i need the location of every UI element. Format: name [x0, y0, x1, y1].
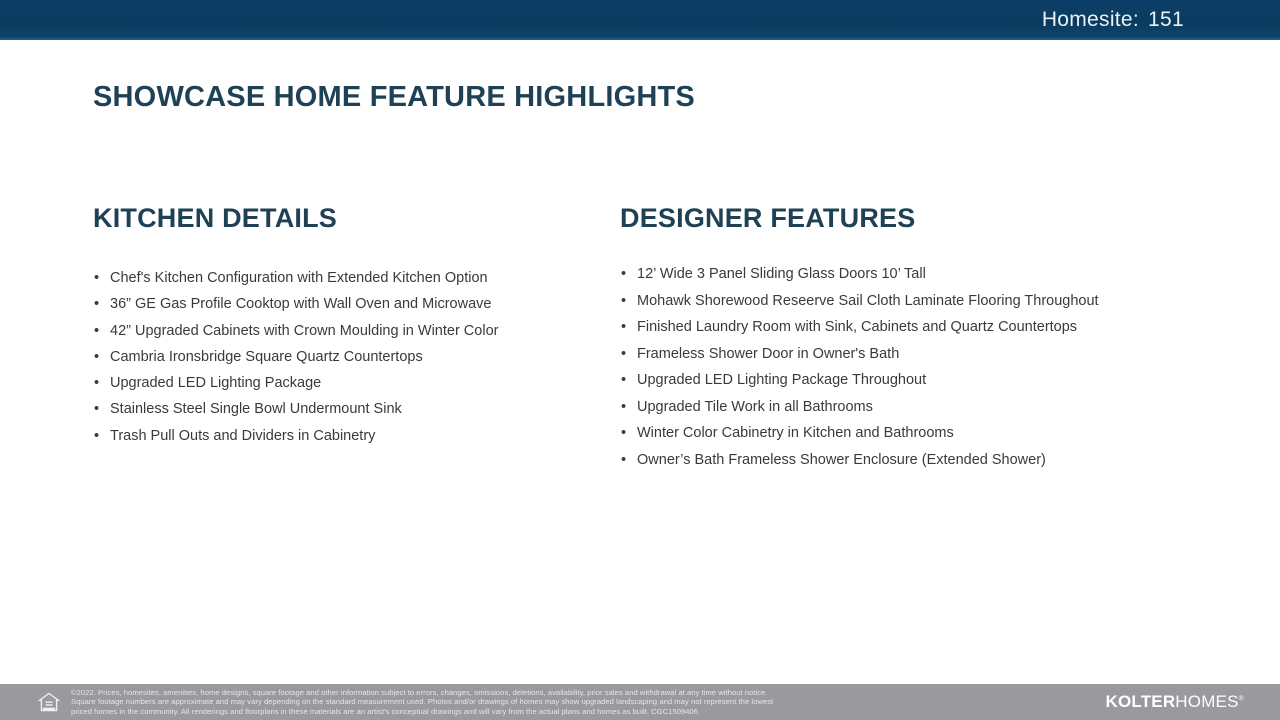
list-item-text: 42” Upgraded Cabinets with Crown Mouldin…	[110, 323, 498, 339]
disclaimer-line-3: priced homes in the community. All rende…	[71, 707, 773, 717]
list-item-text: Winter Color Cabinetry in Kitchen and Ba…	[637, 425, 954, 441]
top-header-bar: Homesite:151	[0, 0, 1280, 40]
homesite-number: 151	[1139, 8, 1184, 31]
list-item-text: Owner’s Bath Frameless Shower Enclosure …	[637, 452, 1046, 468]
bullet-icon: •	[621, 261, 626, 288]
bullet-icon: •	[621, 341, 626, 368]
bullet-icon: •	[94, 370, 99, 396]
homesite-indicator: Homesite:151	[1042, 8, 1280, 32]
list-item-text: Frameless Shower Door in Owner's Bath	[637, 346, 899, 362]
disclaimer-line-2: Square footage numbers are approximate a…	[71, 697, 773, 707]
bullet-icon: •	[621, 314, 626, 341]
list-item-text: Upgraded Tile Work in all Bathrooms	[637, 399, 873, 415]
list-item-text: 12’ Wide 3 Panel Sliding Glass Doors 10’…	[637, 266, 926, 282]
list-item: • Stainless Steel Single Bowl Undermount…	[93, 396, 593, 422]
bullet-icon: •	[621, 420, 626, 447]
bullet-icon: •	[94, 396, 99, 422]
bullet-icon: •	[94, 291, 99, 317]
disclaimer-line-1: ©2022. Prices, homesites, amenities, hom…	[71, 688, 773, 698]
list-item: • Finished Laundry Room with Sink, Cabin…	[620, 314, 1240, 341]
designer-features-column: DESIGNER FEATURES • 12’ Wide 3 Panel Sli…	[620, 203, 1240, 473]
list-item: • 42” Upgraded Cabinets with Crown Mould…	[93, 318, 593, 344]
list-item: • 12’ Wide 3 Panel Sliding Glass Doors 1…	[620, 261, 1240, 288]
bullet-icon: •	[621, 367, 626, 394]
bullet-icon: •	[94, 423, 99, 449]
kitchen-details-heading: KITCHEN DETAILS	[93, 203, 593, 234]
list-item-text: Stainless Steel Single Bowl Undermount S…	[110, 401, 402, 417]
list-item: • Upgraded Tile Work in all Bathrooms	[620, 394, 1240, 421]
bullet-icon: •	[621, 447, 626, 474]
logo-registered-mark: ®	[1239, 695, 1244, 702]
list-item-text: Chef's Kitchen Configuration with Extend…	[110, 270, 488, 286]
bullet-icon: •	[94, 265, 99, 291]
kitchen-details-column: KITCHEN DETAILS • Chef's Kitchen Configu…	[93, 203, 593, 449]
footer-disclaimer: ©2022. Prices, homesites, amenities, hom…	[71, 688, 773, 717]
kitchen-details-list: • Chef's Kitchen Configuration with Exte…	[93, 265, 593, 449]
list-item: • Owner’s Bath Frameless Shower Enclosur…	[620, 447, 1240, 474]
equal-housing-opportunity-icon	[38, 691, 60, 713]
logo-kolter-text: KOLTER	[1105, 692, 1175, 711]
list-item-text: 36” GE Gas Profile Cooktop with Wall Ove…	[110, 296, 491, 312]
list-item-text: Finished Laundry Room with Sink, Cabinet…	[637, 319, 1077, 335]
designer-features-heading: DESIGNER FEATURES	[620, 203, 1240, 234]
bullet-icon: •	[94, 344, 99, 370]
list-item-text: Mohawk Shorewood Reseerve Sail Cloth Lam…	[637, 293, 1099, 309]
list-item-text: Upgraded LED Lighting Package	[110, 375, 321, 391]
list-item-text: Upgraded LED Lighting Package Throughout	[637, 372, 926, 388]
footer-bar: ©2022. Prices, homesites, amenities, hom…	[0, 684, 1280, 720]
homesite-label-text: Homesite:	[1042, 8, 1139, 31]
bullet-icon: •	[621, 394, 626, 421]
page-title: SHOWCASE HOME FEATURE HIGHLIGHTS	[93, 81, 695, 114]
list-item: • Upgraded LED Lighting Package	[93, 370, 593, 396]
designer-features-list: • 12’ Wide 3 Panel Sliding Glass Doors 1…	[620, 261, 1240, 473]
list-item: • Chef's Kitchen Configuration with Exte…	[93, 265, 593, 291]
list-item: • Frameless Shower Door in Owner's Bath	[620, 341, 1240, 368]
list-item: • Trash Pull Outs and Dividers in Cabine…	[93, 423, 593, 449]
list-item: • Winter Color Cabinetry in Kitchen and …	[620, 420, 1240, 447]
list-item: • Mohawk Shorewood Reseerve Sail Cloth L…	[620, 288, 1240, 315]
list-item: • 36” GE Gas Profile Cooktop with Wall O…	[93, 291, 593, 317]
list-item: • Upgraded LED Lighting Package Througho…	[620, 367, 1240, 394]
logo-homes-text: HOMES	[1175, 692, 1238, 711]
bullet-icon: •	[94, 318, 99, 344]
list-item-text: Cambria Ironsbridge Square Quartz Counte…	[110, 349, 423, 365]
kolter-homes-logo: KOLTERHOMES®	[1105, 692, 1244, 712]
list-item-text: Trash Pull Outs and Dividers in Cabinetr…	[110, 428, 375, 444]
bullet-icon: •	[621, 288, 626, 315]
list-item: • Cambria Ironsbridge Square Quartz Coun…	[93, 344, 593, 370]
